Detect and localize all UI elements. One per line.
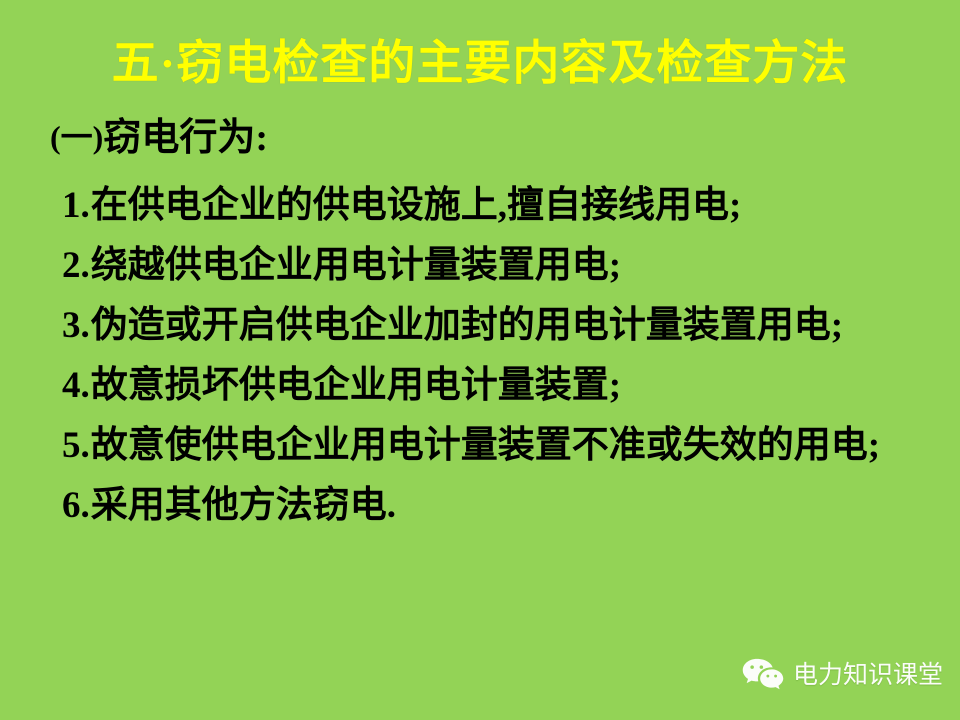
list-item: 3. 伪造或开启供电企业加封的用电计量装置用电; — [62, 296, 902, 355]
section-subtitle: (一)窃电行为: — [50, 112, 268, 163]
watermark: 电力知识课堂 — [742, 658, 943, 691]
list-item-text: 绕越供电企业用电计量装置用电; — [91, 236, 902, 295]
list-item: 5. 故意使供电企业用电计量装置不准或失效的用电; — [62, 416, 902, 475]
list-item: 4. 故意损坏供电企业用电计量装置; — [62, 356, 902, 415]
list-item-number: 3. — [62, 296, 91, 355]
list-item-number: 4. — [62, 356, 91, 415]
list-item-text: 故意使供电企业用电计量装置不准或失效的用电; — [91, 416, 902, 475]
list-item-text: 伪造或开启供电企业加封的用电计量装置用电; — [91, 296, 902, 355]
subtitle-label: 窃电行为: — [103, 117, 268, 159]
list-item: 1. 在供电企业的供电设施上,擅自接线用电; — [62, 176, 902, 235]
violation-list: 1. 在供电企业的供电设施上,擅自接线用电; 2. 绕越供电企业用电计量装置用电… — [62, 176, 902, 536]
watermark-label: 电力知识课堂 — [793, 660, 943, 690]
page-title: 五·窃电检查的主要内容及检查方法 — [0, 34, 960, 94]
list-item-number: 5. — [62, 416, 91, 475]
slide-canvas: 五·窃电检查的主要内容及检查方法 (一)窃电行为: 1. 在供电企业的供电设施上… — [0, 0, 960, 720]
wechat-icon — [742, 658, 784, 691]
list-item-number: 2. — [62, 236, 91, 295]
list-item-text: 在供电企业的供电设施上,擅自接线用电; — [91, 176, 902, 235]
subtitle-enumerator: (一) — [50, 119, 103, 155]
list-item-text: 采用其他方法窃电. — [91, 476, 902, 535]
list-item: 6. 采用其他方法窃电. — [62, 476, 902, 535]
list-item-text: 故意损坏供电企业用电计量装置; — [91, 356, 902, 415]
list-item: 2. 绕越供电企业用电计量装置用电; — [62, 236, 902, 295]
list-item-number: 1. — [62, 176, 91, 235]
list-item-number: 6. — [62, 476, 91, 535]
